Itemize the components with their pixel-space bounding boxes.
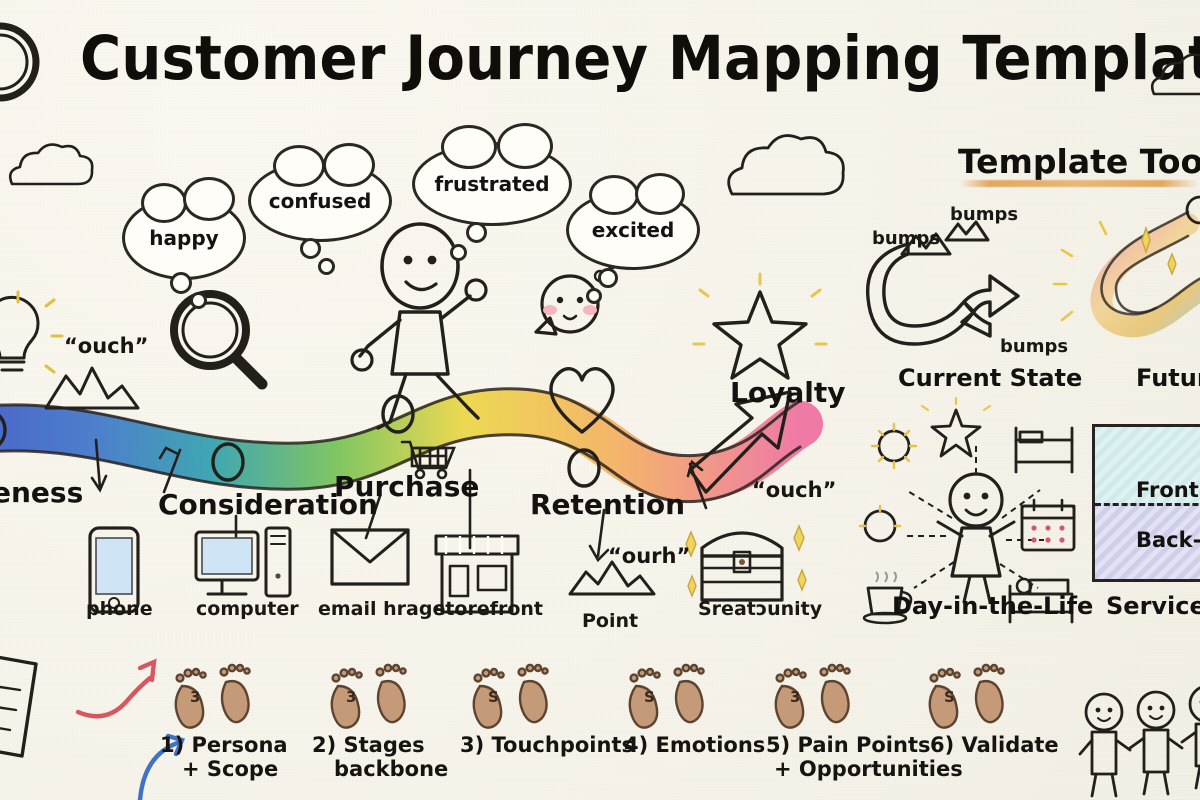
bumps-annotation: bumps xyxy=(1000,336,1068,357)
calendar-icon xyxy=(1022,500,1074,550)
blueprint-back-stage-label: Back-St xyxy=(1136,528,1200,552)
touchpoint-label-opportunity: Sreatɔunity xyxy=(698,598,822,620)
thought-dot xyxy=(190,292,207,309)
footprint-mark: 3 xyxy=(190,688,200,706)
star-icon xyxy=(694,274,826,378)
decor-layer xyxy=(0,0,1200,800)
step-label-4: 4) Emotions xyxy=(624,734,765,758)
step-line2: + Opportunities xyxy=(774,758,963,782)
emotion-bubble-excited: excited xyxy=(566,190,700,270)
touchpoint-label-point: Point xyxy=(582,610,638,632)
thought-dot xyxy=(300,238,321,259)
sun-icon xyxy=(872,424,916,468)
blueprint-divider xyxy=(1095,503,1200,506)
checklist-icon xyxy=(0,654,36,756)
thought-dot xyxy=(450,244,467,261)
bed-icon xyxy=(1016,428,1072,472)
cloud-icon xyxy=(10,145,92,184)
toolbox-heading: Template Toolbox xyxy=(958,142,1200,181)
step-line1: 2) Stages xyxy=(312,733,425,757)
footprint-mark: S xyxy=(944,688,955,706)
footprints-row xyxy=(176,665,1004,728)
thought-dot xyxy=(170,272,192,294)
thought-dot xyxy=(318,258,335,275)
emotion-label: frustrated xyxy=(434,172,549,196)
infographic-canvas: Customer Journey Mapping Templates xyxy=(0,0,1200,800)
step-line1: 3) Touchpoints xyxy=(460,733,634,757)
stage-label-loyalty: Loyalty xyxy=(730,376,845,409)
pain-quote: “ouch” xyxy=(64,334,148,358)
template-card-current-state[interactable]: Current State xyxy=(898,364,1082,392)
stage-label-purchase: Purchase xyxy=(334,470,479,503)
stage-label-retention: Retention xyxy=(530,488,685,521)
emotion-label: excited xyxy=(592,218,675,242)
step-line1: 1) Persona xyxy=(160,733,288,757)
cloud-icon xyxy=(1152,55,1200,94)
template-card-day-in-the-life[interactable]: Day-in-the-Life xyxy=(892,592,1093,620)
bumps-annotation: bumps xyxy=(950,204,1018,225)
step-line2: backbone xyxy=(334,758,448,782)
star-icon xyxy=(922,398,990,456)
step-line1: 5) Pain Points xyxy=(766,733,930,757)
stage-label-awareness: eness xyxy=(0,476,83,509)
template-card-future-state[interactable]: Future xyxy=(1136,364,1200,392)
step-label-2: 2) Stages backbone xyxy=(312,734,448,781)
people-group xyxy=(1080,686,1200,796)
emotion-bubble-confused: confused xyxy=(248,160,392,242)
step-line2: + Scope xyxy=(182,758,278,782)
footprint-mark: S xyxy=(488,688,499,706)
future-state-ribbon xyxy=(1054,197,1200,326)
sun-icon xyxy=(860,506,900,541)
thought-dot xyxy=(598,268,618,288)
pain-quote: “ouch” xyxy=(752,478,836,502)
magnifier-icon xyxy=(174,294,262,384)
step-label-1: 1) Persona + Scope xyxy=(160,734,288,781)
step-line1: 4) Emotions xyxy=(624,733,765,757)
treasure-chest-icon xyxy=(686,526,806,600)
emotion-label: happy xyxy=(149,226,218,250)
bumps-annotation: bumps xyxy=(872,228,940,249)
lightbulb-icon xyxy=(0,292,62,372)
touchpoint-label-storefront: storefront xyxy=(434,598,543,620)
step-line1: 6) Validate xyxy=(930,733,1059,757)
cloud-icon xyxy=(729,136,844,194)
touchpoint-label-computer: computer xyxy=(196,598,299,620)
footprint-mark: 3 xyxy=(346,688,356,706)
touchpoint-label-email: email hrage xyxy=(318,598,445,620)
touchpoint-label-phone: phone xyxy=(86,598,153,620)
computer-icon xyxy=(196,528,290,596)
footprint-mark: S xyxy=(644,688,655,706)
emotion-label: confused xyxy=(269,189,372,213)
blueprint-front-stage-label: Front-S xyxy=(1136,478,1200,502)
emotion-bubble-happy: happy xyxy=(122,196,246,280)
service-blueprint-diagram xyxy=(1092,424,1200,582)
toolbox-underline xyxy=(960,180,1198,187)
pain-quote: “ourh” xyxy=(608,544,690,568)
step-label-6: 6) Validate xyxy=(930,734,1059,758)
thought-dot xyxy=(466,222,487,243)
thought-dot xyxy=(586,288,602,304)
magnifier-icon xyxy=(0,26,36,98)
email-icon xyxy=(332,530,408,584)
footprint-mark: 3 xyxy=(790,688,800,706)
step-label-3: 3) Touchpoints xyxy=(460,734,634,758)
template-card-service-blueprint[interactable]: Service Bl xyxy=(1106,592,1200,620)
emotion-bubble-frustrated: frustrated xyxy=(412,142,572,226)
red-arrow xyxy=(78,678,150,716)
